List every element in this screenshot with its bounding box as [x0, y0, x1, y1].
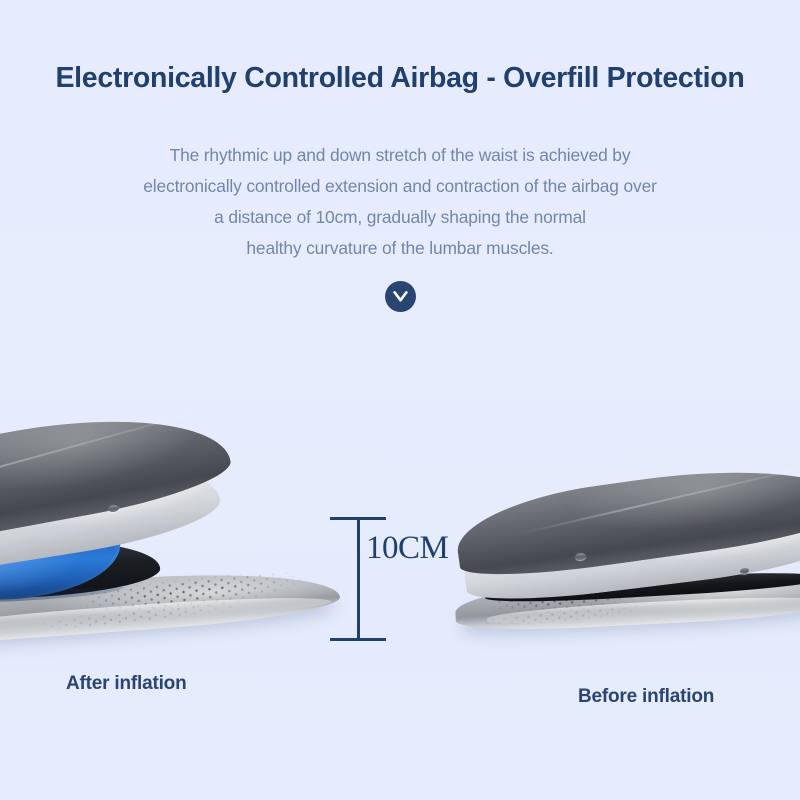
device-before-inflation: [455, 410, 800, 630]
description-line-4: healthy curvature of the lumbar muscles.: [50, 233, 750, 264]
page-description: The rhythmic up and down stretch of the …: [50, 140, 750, 264]
shell-ridge-left: [0, 411, 197, 494]
description-line-2: electronically controlled extension and …: [50, 171, 750, 202]
dimension-line: [357, 518, 360, 640]
description-line-1: The rhythmic up and down stretch of the …: [50, 140, 750, 171]
caption-before-inflation: Before inflation: [578, 686, 714, 708]
dimension-cap-bottom: [330, 638, 386, 641]
caption-after-inflation: After inflation: [66, 673, 187, 695]
shell-ridge-right: [520, 463, 800, 535]
scroll-down-badge[interactable]: [385, 281, 416, 312]
product-feature-page: Electronically Controlled Airbag - Overf…: [0, 0, 800, 800]
page-title: Electronically Controlled Airbag - Overf…: [0, 62, 800, 95]
chevron-down-icon: [393, 291, 408, 302]
dimension-label: 10CM: [366, 530, 448, 567]
product-comparison-scene: [0, 330, 800, 670]
description-line-3: a distance of 10cm, gradually shaping th…: [50, 202, 750, 233]
